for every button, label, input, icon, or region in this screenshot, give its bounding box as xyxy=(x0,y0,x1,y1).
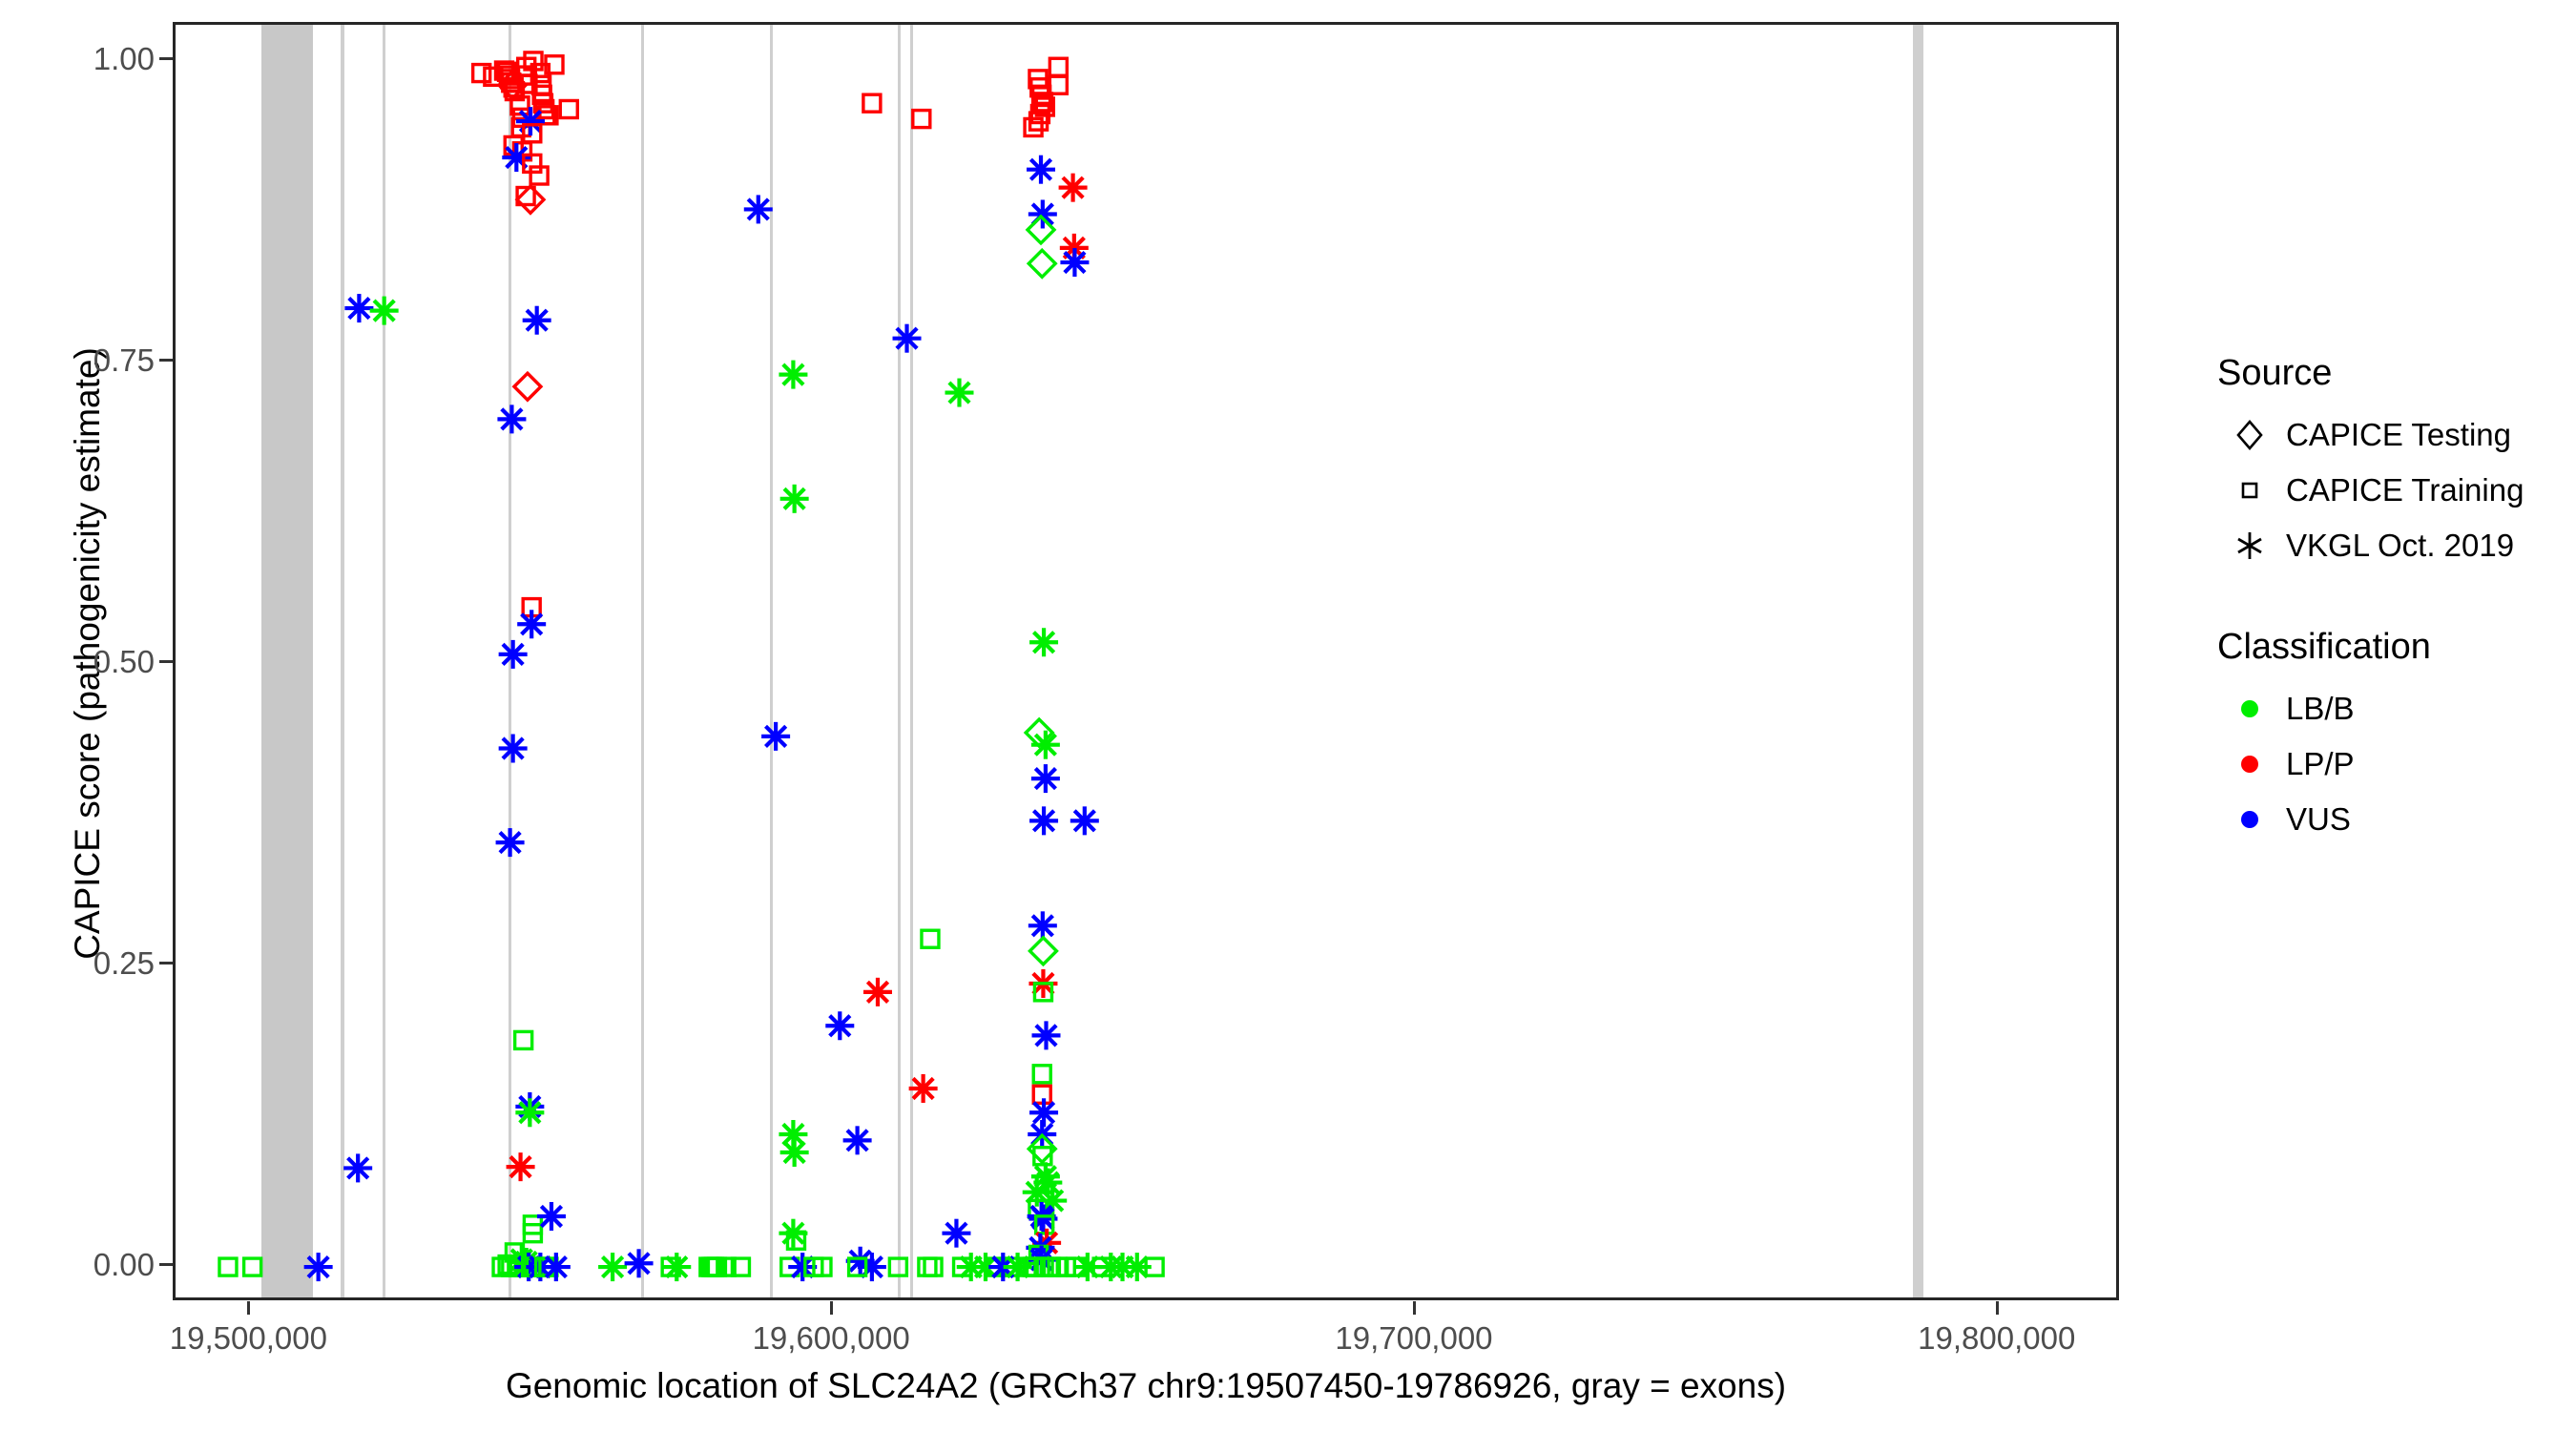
y-tick-mark xyxy=(159,962,173,964)
diamond-icon xyxy=(2213,416,2286,454)
scatter-point xyxy=(542,1253,571,1281)
scatter-point xyxy=(863,94,881,112)
scatter-point xyxy=(942,1219,970,1248)
legend-label-lpp: LP/P xyxy=(2286,746,2355,782)
scatter-point xyxy=(945,379,973,407)
legend-source-block: Source CAPICE Testing CAPICE Training xyxy=(2213,353,2576,573)
legend: Source CAPICE Testing CAPICE Training xyxy=(2213,353,2576,901)
x-tick-mark xyxy=(830,1301,833,1315)
scatter-point xyxy=(779,361,807,389)
scatter-point xyxy=(523,306,551,335)
legend-label-capice-training: CAPICE Training xyxy=(2286,472,2524,508)
square-icon xyxy=(2213,471,2286,509)
scatter-point xyxy=(761,722,790,751)
legend-label-lbb: LB/B xyxy=(2286,691,2355,727)
scatter-point xyxy=(1028,911,1057,940)
y-tick-label: 0.25 xyxy=(11,945,155,982)
scatter-point xyxy=(1029,806,1058,835)
y-tick-label: 0.50 xyxy=(11,644,155,680)
scatter-point xyxy=(502,143,530,172)
scatter-point xyxy=(1029,938,1056,964)
green-dot-icon xyxy=(2213,690,2286,728)
scatter-point xyxy=(1033,1066,1050,1083)
scatter-point xyxy=(219,1258,237,1275)
scatter-point xyxy=(343,1153,372,1182)
x-tick-mark xyxy=(247,1301,250,1315)
scatter-point xyxy=(244,1258,261,1275)
scatter-point xyxy=(344,294,373,322)
scatter-point xyxy=(507,1152,535,1181)
x-tick-label: 19,700,000 xyxy=(1271,1320,1557,1357)
scatter-point xyxy=(1028,250,1055,277)
scatter-point xyxy=(909,1074,938,1103)
scatter-point xyxy=(598,1253,627,1281)
scatter-point xyxy=(825,1011,854,1040)
red-dot-icon xyxy=(2213,745,2286,783)
x-axis-title: Genomic location of SLC24A2 (GRCh37 chr9… xyxy=(173,1366,2119,1406)
legend-item-vkgl[interactable]: VKGL Oct. 2019 xyxy=(2213,518,2576,573)
scatter-point xyxy=(1029,628,1058,656)
scatter-point xyxy=(1059,174,1088,202)
scatter-point xyxy=(1049,58,1067,75)
scatter-point xyxy=(913,111,930,128)
x-tick-mark xyxy=(1413,1301,1416,1315)
scatter-point xyxy=(514,373,541,400)
legend-source-title: Source xyxy=(2217,353,2576,394)
scatter-point xyxy=(537,1202,566,1231)
scatter-point xyxy=(780,485,809,513)
scatter-point xyxy=(1027,156,1055,184)
y-tick-mark xyxy=(159,359,173,362)
y-tick-mark xyxy=(159,1263,173,1266)
scatter-point xyxy=(922,930,939,947)
scatter-point xyxy=(1004,1253,1032,1281)
scatter-point xyxy=(919,1258,936,1275)
scatter-point xyxy=(515,1098,544,1127)
scatter-point xyxy=(1032,1021,1061,1049)
scatter-point xyxy=(1031,731,1060,759)
scatter-point xyxy=(370,297,399,325)
y-tick-label: 0.75 xyxy=(11,342,155,379)
chart-root: CAPICE score (pathogenicity estimate) Ge… xyxy=(0,0,2576,1431)
x-tick-label: 19,800,000 xyxy=(1854,1320,2140,1357)
scatter-point xyxy=(304,1253,333,1281)
scatter-point xyxy=(517,186,544,213)
scatter-point xyxy=(1070,806,1099,835)
plot-panel xyxy=(173,22,2119,1300)
legend-label-vkgl: VKGL Oct. 2019 xyxy=(2286,528,2514,564)
asterisk-icon xyxy=(2213,527,2286,565)
scatter-point xyxy=(924,1258,942,1275)
legend-label-vus: VUS xyxy=(2286,801,2351,838)
legend-classification-title: Classification xyxy=(2217,627,2576,668)
y-tick-label: 1.00 xyxy=(11,41,155,77)
scatter-point xyxy=(497,404,526,433)
scatter-point xyxy=(560,100,577,117)
scatter-point xyxy=(625,1249,654,1277)
legend-label-capice-testing: CAPICE Testing xyxy=(2286,417,2511,453)
legend-classification-block: Classification LB/B LP/P VUS xyxy=(2213,627,2576,847)
y-tick-mark xyxy=(159,660,173,663)
scatter-point xyxy=(780,1138,809,1167)
legend-item-capice-training[interactable]: CAPICE Training xyxy=(2213,463,2576,518)
x-tick-label: 19,500,000 xyxy=(105,1320,391,1357)
scatter-point xyxy=(499,734,528,762)
y-tick-label: 0.00 xyxy=(11,1247,155,1283)
scatter-point xyxy=(744,195,773,223)
scatter-point xyxy=(517,610,546,638)
scatter-point xyxy=(1060,248,1089,277)
legend-item-vus[interactable]: VUS xyxy=(2213,792,2576,847)
scatter-point xyxy=(662,1253,691,1281)
x-tick-mark xyxy=(1996,1301,1999,1315)
legend-item-lpp[interactable]: LP/P xyxy=(2213,736,2576,792)
legend-item-lbb[interactable]: LB/B xyxy=(2213,681,2576,736)
x-tick-label: 19,600,000 xyxy=(688,1320,974,1357)
scatter-point xyxy=(889,1258,906,1275)
scatter-markers xyxy=(176,25,2119,1300)
scatter-point xyxy=(843,1126,872,1154)
scatter-point xyxy=(496,828,525,857)
scatter-point xyxy=(499,640,528,669)
scatter-point xyxy=(1031,764,1060,793)
scatter-point xyxy=(1049,76,1067,93)
scatter-point xyxy=(863,978,892,1006)
legend-item-capice-testing[interactable]: CAPICE Testing xyxy=(2213,407,2576,463)
blue-dot-icon xyxy=(2213,800,2286,839)
scatter-point xyxy=(515,1031,532,1048)
scatter-point xyxy=(893,324,922,353)
y-tick-mark xyxy=(159,57,173,60)
